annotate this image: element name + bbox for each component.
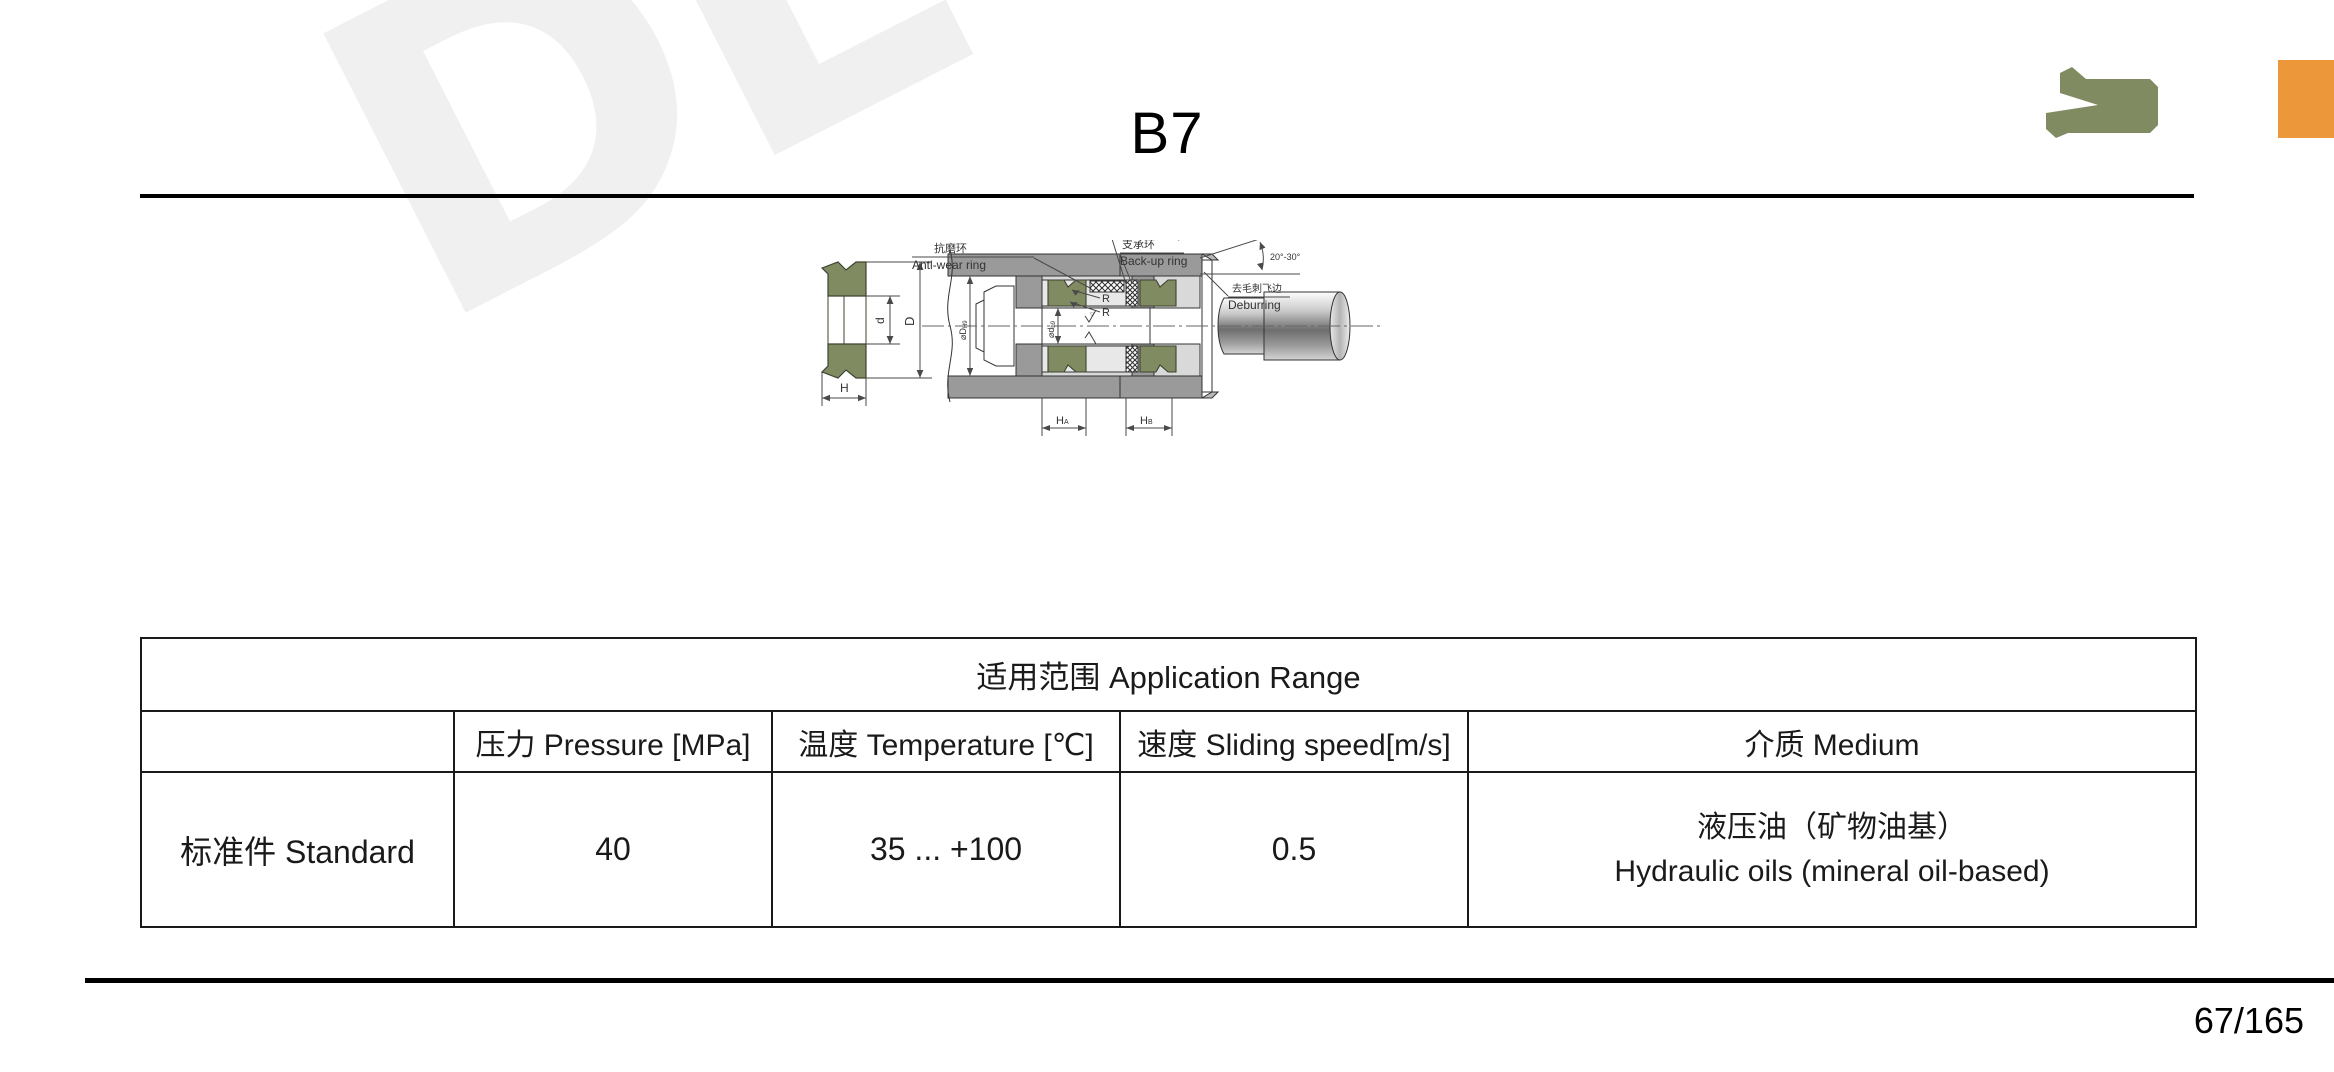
table-row-title: 适用范围 Application Range	[141, 638, 2196, 711]
cell-pressure: 40	[454, 772, 772, 927]
medium-en: Hydraulic oils (mineral oil-based)	[1477, 850, 2187, 894]
page-number: 67/165	[2194, 1000, 2304, 1042]
svg-text:20°-30°: 20°-30°	[1270, 252, 1301, 262]
dimension-d: d	[866, 296, 900, 344]
application-range-table: 适用范围 Application Range 压力 Pressure [MPa]…	[140, 637, 2197, 928]
svg-text:D: D	[902, 317, 917, 326]
svg-text:Deburring: Deburring	[1228, 298, 1281, 312]
column-header-pressure: 压力 Pressure [MPa]	[454, 711, 772, 772]
seal-profile-logo-icon	[2046, 65, 2166, 140]
svg-text:去毛刺飞边: 去毛刺飞边	[1232, 283, 1282, 295]
header-divider	[140, 194, 2194, 198]
column-header-speed: 速度 Sliding speed[m/s]	[1120, 711, 1468, 772]
svg-text:HB: HB	[1140, 415, 1153, 427]
technical-drawing: d D H	[820, 240, 1520, 590]
svg-text:R: R	[1102, 307, 1110, 319]
dimension-groove-a: HA	[1042, 398, 1086, 436]
column-header-temperature: 温度 Temperature [℃]	[772, 711, 1120, 772]
document-page: DL B7	[0, 0, 2334, 1072]
table-row-headers: 压力 Pressure [MPa] 温度 Temperature [℃] 速度 …	[141, 711, 2196, 772]
cell-medium: 液压油（矿物油基） Hydraulic oils (mineral oil-ba…	[1468, 772, 2196, 927]
column-header-blank	[141, 711, 454, 772]
footer-divider	[85, 978, 2334, 983]
svg-text:HA: HA	[1056, 415, 1069, 427]
svg-text:d: d	[873, 317, 887, 324]
svg-text:H: H	[840, 381, 849, 395]
page-title: B7	[0, 100, 2334, 167]
svg-text:抗磨环: 抗磨环	[934, 241, 967, 255]
svg-text:Anti-wear ring: Anti-wear ring	[912, 258, 986, 272]
seal-profile-section	[822, 262, 866, 378]
svg-text:Back-up ring: Back-up ring	[1120, 254, 1187, 268]
svg-text:⌀DH9: ⌀DH9	[958, 320, 969, 340]
assembly-cross-section: ▽	[922, 250, 1380, 402]
dimension-groove-b: HB	[1126, 398, 1172, 436]
svg-text:▽: ▽	[1090, 312, 1094, 318]
table-row-standard: 标准件 Standard 40 35 ... +100 0.5 液压油（矿物油基…	[141, 772, 2196, 927]
cell-temperature: 35 ... +100	[772, 772, 1120, 927]
cell-type: 标准件 Standard	[141, 772, 454, 927]
section-color-tab	[2278, 60, 2334, 138]
column-header-medium: 介质 Medium	[1468, 711, 2196, 772]
svg-text:R: R	[1102, 293, 1110, 305]
svg-text:支承环: 支承环	[1122, 240, 1155, 251]
medium-zh: 液压油（矿物油基）	[1477, 806, 2187, 850]
annotation-deburring: 去毛刺飞边 Deburring	[1204, 272, 1290, 312]
application-range-header: 适用范围 Application Range	[141, 638, 2196, 711]
cell-speed: 0.5	[1120, 772, 1468, 927]
